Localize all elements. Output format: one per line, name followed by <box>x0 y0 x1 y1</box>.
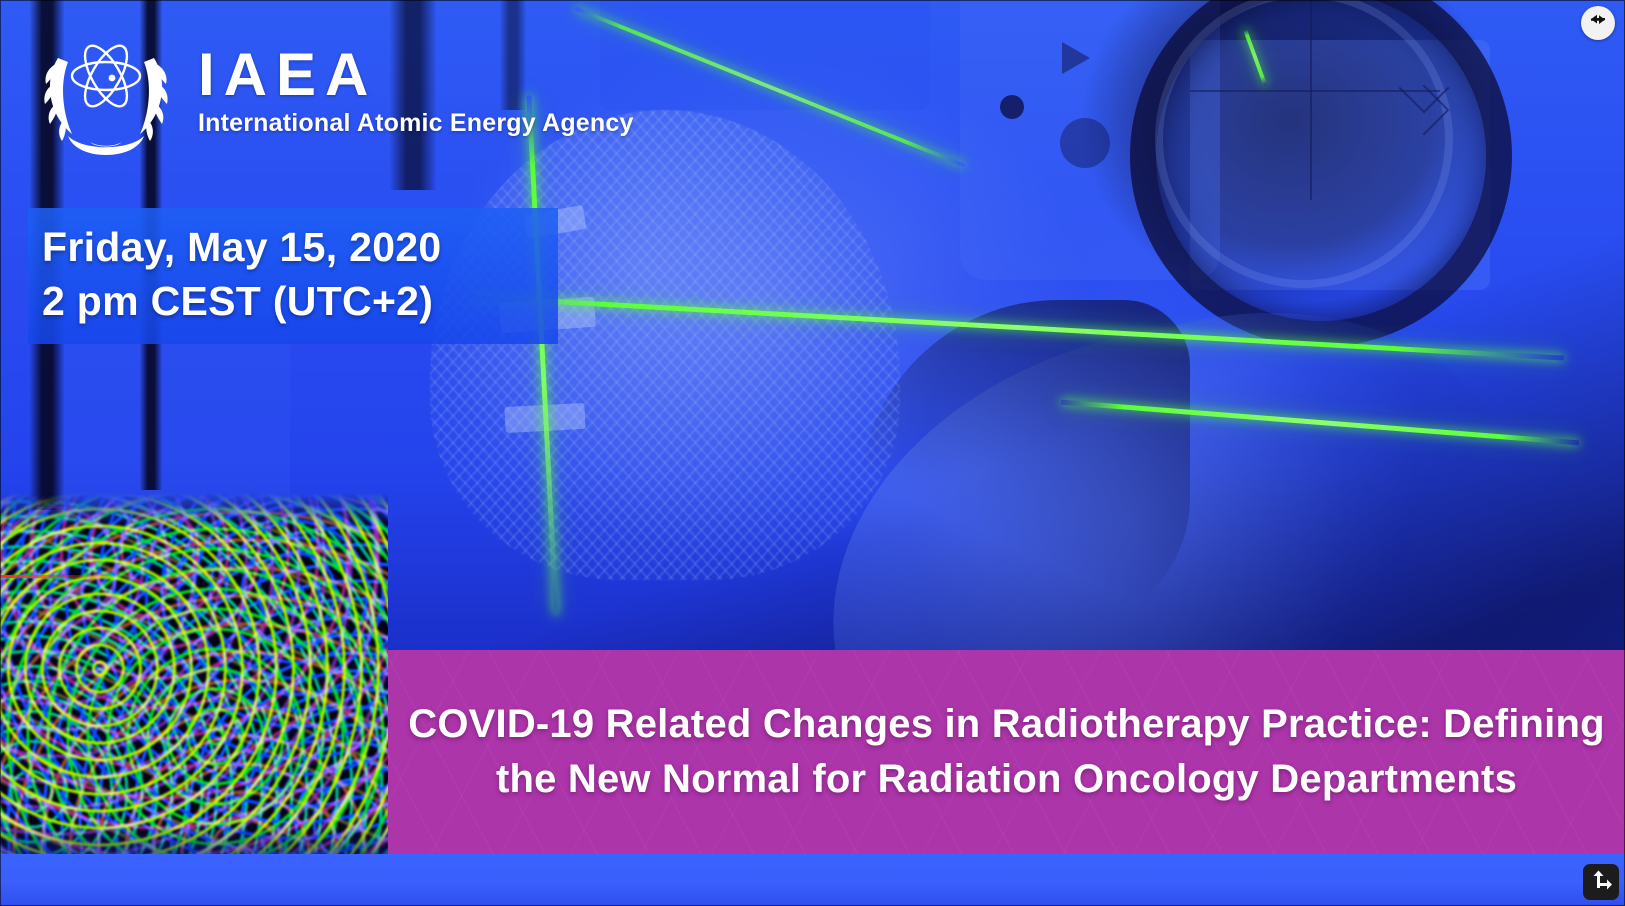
resize-button[interactable] <box>1583 864 1619 900</box>
small-port <box>1000 95 1024 119</box>
gantry-bore-inner <box>1155 0 1453 288</box>
event-date: Friday, May 15, 2020 <box>42 220 544 274</box>
webinar-slide: IAEA International Atomic Energy Agency … <box>0 0 1625 906</box>
iaea-full-name: International Atomic Energy Agency <box>198 109 634 138</box>
bottom-blue-strip <box>0 854 1625 906</box>
triangle-marker-icon <box>1062 42 1090 74</box>
brain-mri-inset <box>0 493 388 878</box>
crosshair-vertical <box>1310 0 1312 200</box>
event-time: 2 pm CEST (UTC+2) <box>42 274 544 328</box>
sync-button[interactable] <box>1581 6 1615 40</box>
circular-port <box>1060 118 1110 168</box>
event-date-panel: Friday, May 15, 2020 2 pm CEST (UTC+2) <box>28 208 558 344</box>
immobilisation-mask <box>430 110 900 580</box>
linac-panel-upper <box>600 0 930 110</box>
wall-panel-left <box>60 330 290 520</box>
webinar-title: COVID-19 Related Changes in Radiotherapy… <box>388 697 1625 807</box>
title-banner: COVID-19 Related Changes in Radiotherapy… <box>388 650 1625 854</box>
iaea-acronym: IAEA <box>198 46 634 105</box>
sync-swap-arrows-icon <box>1586 9 1610 38</box>
iaea-atom-laurel-logo-icon <box>28 14 184 164</box>
iaea-logo-block: IAEA International Atomic Energy Agency <box>28 14 634 164</box>
mri-reference-line <box>0 575 120 578</box>
patient-shadow <box>860 300 1190 630</box>
iaea-logo-text: IAEA International Atomic Energy Agency <box>198 40 634 138</box>
resize-expand-arrows-icon <box>1589 868 1613 897</box>
